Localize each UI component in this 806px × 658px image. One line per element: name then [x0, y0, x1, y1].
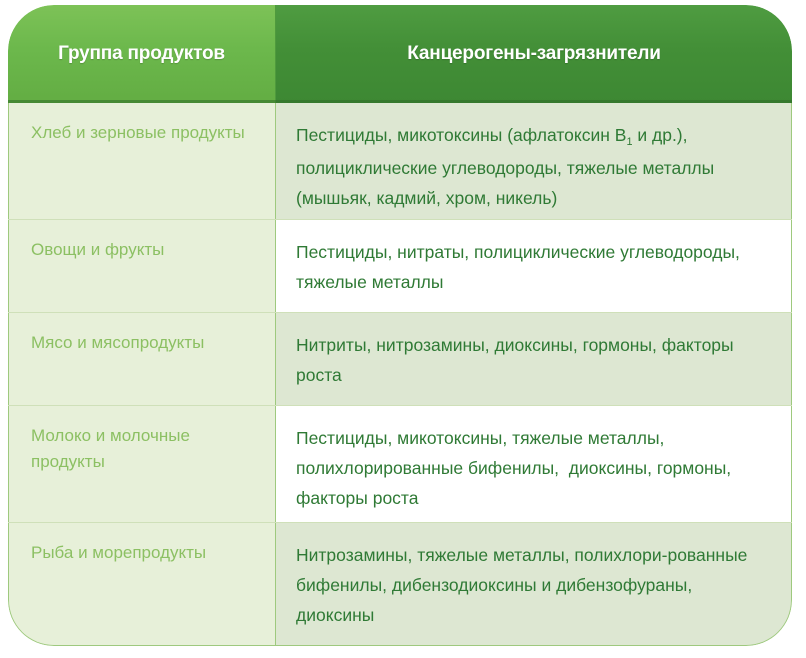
table-row: Хлеб и зерновые продукты Пестициды, мико… — [8, 103, 792, 220]
cell-carcinogens: Пестициды, нитраты, полициклические угле… — [276, 220, 792, 312]
carcinogens-text-part1: Пестициды, микотоксины (афлатоксин B — [296, 125, 626, 145]
carcinogens-text: Нитриты, нитрозамины, диоксины, гормоны,… — [296, 335, 734, 385]
cell-product-group: Рыба и морепродукты — [8, 523, 276, 646]
cell-carcinogens: Пестициды, микотоксины (афлатоксин B1 и … — [276, 103, 792, 219]
cell-product-group: Мясо и мясопродукты — [8, 313, 276, 405]
product-group-label: Хлеб и зерновые продукты — [31, 123, 245, 142]
table-header-row: Группа продуктов Канцерогены-загрязнител… — [8, 5, 792, 103]
carcinogens-text: Пестициды, микотоксины, тяжелые металлы,… — [296, 428, 736, 508]
product-group-label: Овощи и фрукты — [31, 240, 164, 259]
cell-carcinogens: Нитрозамины, тяжелые металлы, полихлори-… — [276, 523, 792, 646]
cell-product-group: Молоко и молочные продукты — [8, 406, 276, 522]
product-group-label: Мясо и мясопродукты — [31, 333, 204, 352]
table-body: Хлеб и зерновые продукты Пестициды, мико… — [8, 103, 792, 646]
table-row: Рыба и морепродукты Нитрозамины, тяжелые… — [8, 523, 792, 646]
cell-product-group: Овощи и фрукты — [8, 220, 276, 312]
cell-carcinogens: Нитриты, нитрозамины, диоксины, гормоны,… — [276, 313, 792, 405]
table: Группа продуктов Канцерогены-загрязнител… — [8, 5, 792, 646]
carcinogens-subscript: 1 — [626, 136, 632, 148]
table-row: Молоко и молочные продукты Пестициды, ми… — [8, 406, 792, 523]
header-cell-carcinogens: Канцерогены-загрязнители — [276, 5, 792, 103]
table-row: Овощи и фрукты Пестициды, нитраты, полиц… — [8, 220, 792, 313]
carcinogen-food-table: Группа продуктов Канцерогены-загрязнител… — [8, 5, 792, 646]
product-group-label: Рыба и морепродукты — [31, 543, 206, 562]
header-label-product-group: Группа продуктов — [58, 43, 225, 65]
header-cell-product-group: Группа продуктов — [8, 5, 276, 103]
carcinogens-text: Пестициды, нитраты, полициклические угле… — [296, 242, 740, 292]
cell-product-group: Хлеб и зерновые продукты — [8, 103, 276, 219]
header-label-carcinogens: Канцерогены-загрязнители — [407, 43, 660, 65]
table-row: Мясо и мясопродукты Нитриты, нитрозамины… — [8, 313, 792, 406]
cell-carcinogens: Пестициды, микотоксины, тяжелые металлы,… — [276, 406, 792, 522]
carcinogens-text: Нитрозамины, тяжелые металлы, полихлори-… — [296, 545, 747, 625]
product-group-label: Молоко и молочные продукты — [31, 426, 190, 471]
